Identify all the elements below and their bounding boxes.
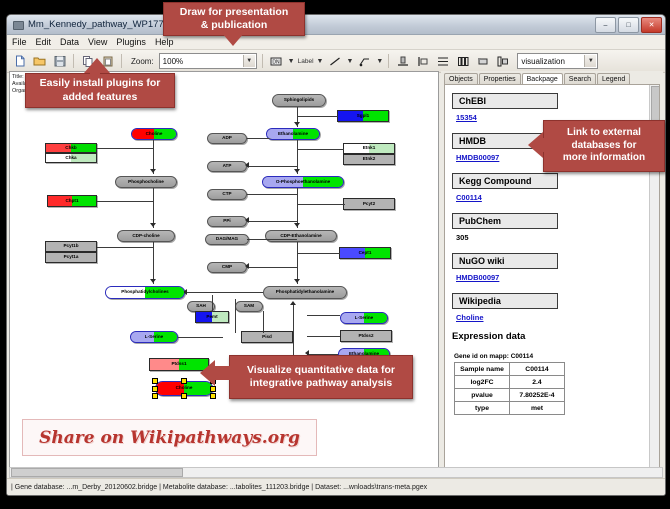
save-icon[interactable] — [51, 53, 68, 70]
window-titlebar: Mm_Kennedy_pathway_WP1771_45176.gpml – □… — [7, 15, 665, 35]
annotation-link: Link to external databases for more info… — [543, 120, 665, 172]
annotation-plugins-line1: Easily install plugins for — [40, 77, 161, 90]
gene-node-chkb[interactable]: Chkb — [45, 143, 97, 153]
pathway-edge — [297, 149, 345, 150]
metabolite-node-cdp-ethanolamine[interactable]: CDP-Ethanolamine — [265, 230, 337, 242]
annotation-link-line2: databases for — [571, 140, 636, 153]
pathway-edge — [185, 292, 263, 293]
pathway-edge — [297, 116, 339, 117]
pathway-edge — [293, 333, 294, 355]
pathway-edge — [153, 242, 154, 284]
gene-node-etnk1[interactable]: Etnk1 — [343, 143, 395, 154]
table-cell: pvalue — [455, 389, 510, 402]
node-label: DAG/MAG — [216, 237, 238, 242]
backpage-link-kegg-compound[interactable]: C00114 — [456, 193, 650, 202]
annotation-plugins-line2: added features — [63, 91, 138, 104]
zoom-combobox[interactable]: 100% ▼ — [159, 53, 257, 69]
annotation-plugins: Easily install plugins for added feature… — [25, 73, 175, 108]
line-icon[interactable] — [326, 53, 343, 70]
metabolite-node-sphingolipids[interactable]: Sphingolipids — [272, 94, 326, 107]
label-tool-label[interactable]: Label — [298, 58, 314, 65]
stack-icon[interactable] — [454, 53, 471, 70]
visualization-value: visualization — [521, 57, 565, 66]
node-label: ATP — [223, 164, 232, 169]
arrow-atp — [245, 162, 249, 168]
tab-properties[interactable]: Properties — [479, 73, 521, 84]
pathway-edge — [153, 188, 154, 228]
arrow-sphingo-etn — [294, 122, 300, 126]
table-cell: 7.80252E-4 — [510, 389, 565, 402]
toolbar-separator-2 — [121, 54, 122, 68]
gene-node-chpt1[interactable]: Chpt1 — [47, 195, 97, 207]
node-label: L-Serine — [145, 335, 163, 340]
zoom-value: 100% — [163, 57, 183, 66]
gene-node-pemt[interactable]: Pemt — [195, 311, 229, 323]
table-row: log2FC2.4 — [455, 376, 565, 389]
selection-handle[interactable] — [210, 393, 216, 399]
pathway-edge — [97, 201, 153, 202]
table-cell: C00114 — [510, 363, 565, 376]
metabolite-node-adp[interactable]: ADP — [207, 133, 247, 144]
node-label: Ptdss2 — [358, 334, 373, 339]
zoom-label: Zoom: — [131, 57, 154, 66]
visualization-chevron-icon[interactable]: ▼ — [584, 55, 596, 67]
metabolite-node-choline[interactable]: Choline — [131, 128, 177, 140]
metabolite-node-phosphatidylethanolamine[interactable]: Phosphatidylethanolamine — [263, 286, 347, 299]
metabolite-node-ctp[interactable]: CTP — [207, 189, 247, 200]
node-label: Choline — [146, 132, 163, 137]
metabolite-node-o-phosphoethanolamine[interactable]: O-Phosphoethanolamine — [262, 176, 344, 188]
table-row: pvalue7.80252E-4 — [455, 389, 565, 402]
backpage-section-wikipedia: Wikipedia — [452, 293, 558, 309]
pathway-edge — [293, 305, 294, 333]
table-cell: type — [455, 402, 510, 415]
metabolite-node-l-serine[interactable]: L-Serine — [130, 331, 178, 343]
table-cell: met — [510, 402, 565, 415]
pathway-edge — [307, 336, 340, 337]
node-label: Phosphocholine — [128, 180, 164, 185]
pathway-edge — [97, 148, 153, 149]
pathway-canvas[interactable]: Title: Availa Organi SphingolipidsCholin… — [9, 71, 439, 478]
gene-node-pcyt2[interactable]: Pcyt2 — [343, 198, 395, 210]
gene-id-line: Gene id on mapp: C00114 — [454, 353, 650, 360]
window-controls: – □ ✕ — [595, 17, 662, 33]
node-label: O-Phosphoethanolamine — [276, 180, 330, 185]
table-cell: 2.4 — [510, 376, 565, 389]
toolbar-separator — [73, 54, 74, 68]
align-left-icon[interactable] — [414, 53, 431, 70]
menubar: File Edit Data View Plugins Help — [7, 35, 665, 50]
pathway-edge — [247, 166, 297, 167]
menu-data[interactable]: Data — [60, 37, 79, 47]
distribute-icon[interactable] — [434, 53, 451, 70]
node-label: CTP — [222, 192, 231, 197]
arrow-pisd-ptdetn — [290, 301, 296, 305]
pathway-edge — [247, 194, 297, 195]
table-cell: Sample name — [455, 363, 510, 376]
menu-edit[interactable]: Edit — [36, 37, 52, 47]
maximize-button[interactable]: □ — [618, 17, 639, 33]
gene-node-etnk2[interactable]: Etnk2 — [343, 154, 395, 165]
node-label: ADP — [222, 136, 232, 141]
node-label: Sphingolipids — [284, 98, 314, 103]
backpage-section-kegg-compound: Kegg Compound — [452, 173, 558, 189]
arrow-dropdown-icon[interactable]: ▼ — [376, 58, 383, 65]
node-label: Pcyt1b — [63, 244, 78, 249]
label-dropdown-icon[interactable]: ▼ — [317, 58, 324, 65]
selection-handle[interactable] — [152, 393, 158, 399]
chevron-down-icon[interactable]: ▼ — [243, 55, 255, 67]
annotation-link-stem — [536, 138, 546, 152]
metabolite-node-l-serine[interactable]: L-Serine — [340, 312, 388, 324]
selection-handle[interactable] — [152, 386, 158, 392]
table-row: typemet — [455, 402, 565, 415]
metabolite-node-ethanolamine[interactable]: Ethanolamine — [266, 128, 320, 140]
annotation-visualize-stem — [210, 366, 232, 380]
node-label: Sgpl1 — [357, 114, 370, 119]
arrow-cdp-ptdcho — [150, 279, 156, 283]
metabolite-node-ppi[interactable]: PPi — [207, 216, 247, 227]
arrow-cdpethn-ptdetn — [294, 279, 300, 283]
annotation-link-line3: more information — [563, 152, 645, 165]
pathway-edge — [293, 311, 294, 317]
arrow-etn-pethn — [294, 169, 300, 173]
selection-handle[interactable] — [152, 378, 158, 384]
selection-handle[interactable] — [181, 378, 187, 384]
gene-node-pisd[interactable]: Pisd — [241, 331, 293, 343]
node-label: Phosphatidylethanolamine — [276, 290, 334, 295]
annotation-plugins-stem — [90, 66, 100, 76]
menu-help[interactable]: Help — [155, 37, 174, 47]
close-button[interactable]: ✕ — [641, 17, 662, 33]
node-label: Ethanolamine — [278, 132, 308, 137]
pathway-edge — [263, 311, 264, 333]
arrow-icon[interactable] — [356, 53, 373, 70]
canvas-hscrollbar[interactable] — [9, 467, 663, 478]
arrow-pethn-cdpethn — [294, 223, 300, 227]
node-label: CMP — [222, 265, 232, 270]
metabolite-node-atp[interactable]: ATP — [207, 161, 247, 172]
statusbar: | Gene database: ...m_Derby_20120602.bri… — [7, 478, 665, 495]
pathway-edge — [297, 188, 298, 228]
metabolite-node-phosphocholine[interactable]: Phosphocholine — [115, 176, 177, 188]
gene-node-ptdss2[interactable]: Ptdss2 — [340, 330, 392, 342]
annotation-share-text: Share on Wikipathways.org — [39, 428, 300, 448]
annotation-link-line1: Link to external — [567, 127, 641, 140]
canvas-hscrollbar-thumb[interactable] — [11, 468, 183, 477]
gene-node-sgpl1[interactable]: Sgpl1 — [337, 110, 389, 122]
arrow-cmp — [245, 263, 249, 269]
node-label: Ptdss1 — [171, 362, 186, 367]
visualization-combobox[interactable]: visualization ▼ — [517, 53, 598, 69]
node-label: Pemt — [206, 315, 217, 320]
minimize-button[interactable]: – — [595, 17, 616, 33]
new-file-icon[interactable] — [11, 53, 28, 70]
pathway-edge — [235, 299, 236, 333]
pathway-edge — [247, 239, 297, 240]
annotation-visualize: Visualize quantitative data for integrat… — [229, 355, 413, 399]
datanode-icon[interactable]: DN — [268, 53, 285, 70]
metabolite-node-sam[interactable]: SAM — [235, 301, 263, 312]
gene-node-chka[interactable]: Chka — [45, 153, 97, 163]
tab-objects[interactable]: Objects — [444, 73, 478, 84]
pathway-edge — [297, 242, 298, 284]
app-icon — [12, 19, 23, 30]
line-dropdown-icon[interactable]: ▼ — [346, 58, 353, 65]
annotation-draw: Draw for presentation & publication — [163, 2, 305, 36]
backpage-link-wikipedia[interactable]: Choline — [456, 313, 650, 322]
node-label: Pcyt1a — [64, 255, 79, 260]
tab-legend[interactable]: Legend — [597, 73, 630, 84]
expression-table: Sample nameC00114log2FC2.4pvalue7.80252E… — [454, 362, 565, 415]
selection-handle[interactable] — [210, 386, 216, 392]
annotation-visualize-line2: integrative pathway analysis — [250, 377, 392, 390]
metabolite-node-cmp[interactable]: CMP — [207, 262, 247, 273]
backpage-section-nugo-wiki: NuGO wiki — [452, 253, 558, 269]
node-label: SAM — [244, 304, 254, 309]
annotation-draw-arrow — [222, 33, 244, 46]
annotation-share: Share on Wikipathways.org — [22, 419, 317, 456]
metabolite-node-cdp-choline[interactable]: CDP-choline — [117, 230, 175, 242]
metabolite-node-phosphatidylcholines[interactable]: Phosphatidylcholines — [105, 286, 185, 299]
node-label: Etnk2 — [363, 157, 376, 162]
arrow-ppi — [245, 217, 249, 223]
node-label: Pcyt2 — [363, 202, 375, 207]
pathway-edge — [307, 315, 340, 316]
node-label: Cept1 — [359, 251, 372, 256]
group-icon[interactable] — [474, 53, 491, 70]
backpage-value-pubchem: 305 — [456, 233, 650, 242]
pathway-edge — [97, 247, 153, 248]
table-cell: log2FC — [455, 376, 510, 389]
menu-plugins[interactable]: Plugins — [116, 37, 146, 47]
side-panel-tabs: ObjectsPropertiesBackpageSearchLegend — [441, 71, 663, 84]
node-label: PPi — [223, 219, 230, 224]
menu-view[interactable]: View — [88, 37, 107, 47]
order-icon[interactable] — [494, 53, 511, 70]
node-label: Etnk1 — [363, 146, 376, 151]
open-folder-icon[interactable] — [31, 53, 48, 70]
annotation-visualize-line1: Visualize quantitative data for — [247, 364, 395, 377]
node-label: Pisd — [262, 335, 272, 340]
tab-search[interactable]: Search — [564, 73, 596, 84]
gene-node-cept1[interactable]: Cept1 — [339, 247, 391, 259]
gene-node-pcyt1a[interactable]: Pcyt1a — [45, 252, 97, 263]
toolbar-separator-4 — [388, 54, 389, 68]
datanode-dropdown-icon[interactable]: ▼ — [288, 58, 295, 65]
node-label: Chka — [65, 156, 76, 161]
node-label: L-Serine — [355, 316, 373, 321]
node-label: Chkb — [65, 146, 76, 151]
pathway-edge — [247, 221, 297, 222]
annotation-draw-line2: & publication — [201, 19, 268, 32]
node-label: CDP-Ethanolamine — [280, 234, 321, 239]
backpage-section-pubchem: PubChem — [452, 213, 558, 229]
statusbar-text: | Gene database: ...m_Derby_20120602.bri… — [11, 484, 427, 491]
backpage-section-chebi: ChEBI — [452, 93, 558, 109]
pathway-edge — [247, 267, 297, 268]
toolbar-separator-3 — [262, 54, 263, 68]
node-label: Choline — [176, 386, 193, 391]
arrow-choline-phosphocholine — [150, 169, 156, 173]
menu-file[interactable]: File — [12, 37, 27, 47]
pathway-edge — [297, 253, 341, 254]
node-label: SAH — [196, 304, 206, 309]
node-label: Phosphatidylcholines — [121, 290, 168, 295]
node-label: Chpt1 — [65, 199, 78, 204]
selection-handle[interactable] — [181, 393, 187, 399]
gene-node-pcyt1b[interactable]: Pcyt1b — [45, 241, 97, 252]
svg-text:DN: DN — [273, 59, 281, 65]
table-row: Sample nameC00114 — [455, 363, 565, 376]
node-label: CDP-choline — [132, 234, 159, 239]
pathway-edge — [297, 204, 345, 205]
metabolite-node-dag-mag[interactable]: DAG/MAG — [205, 234, 249, 245]
align-top-icon[interactable] — [394, 53, 411, 70]
annotation-draw-line1: Draw for presentation — [180, 6, 289, 19]
backpage-link-nugo-wiki[interactable]: HMDB00097 — [456, 273, 650, 282]
expression-data-header: Expression data — [452, 331, 650, 342]
arrow-phosphocholine-cdp — [150, 223, 156, 227]
